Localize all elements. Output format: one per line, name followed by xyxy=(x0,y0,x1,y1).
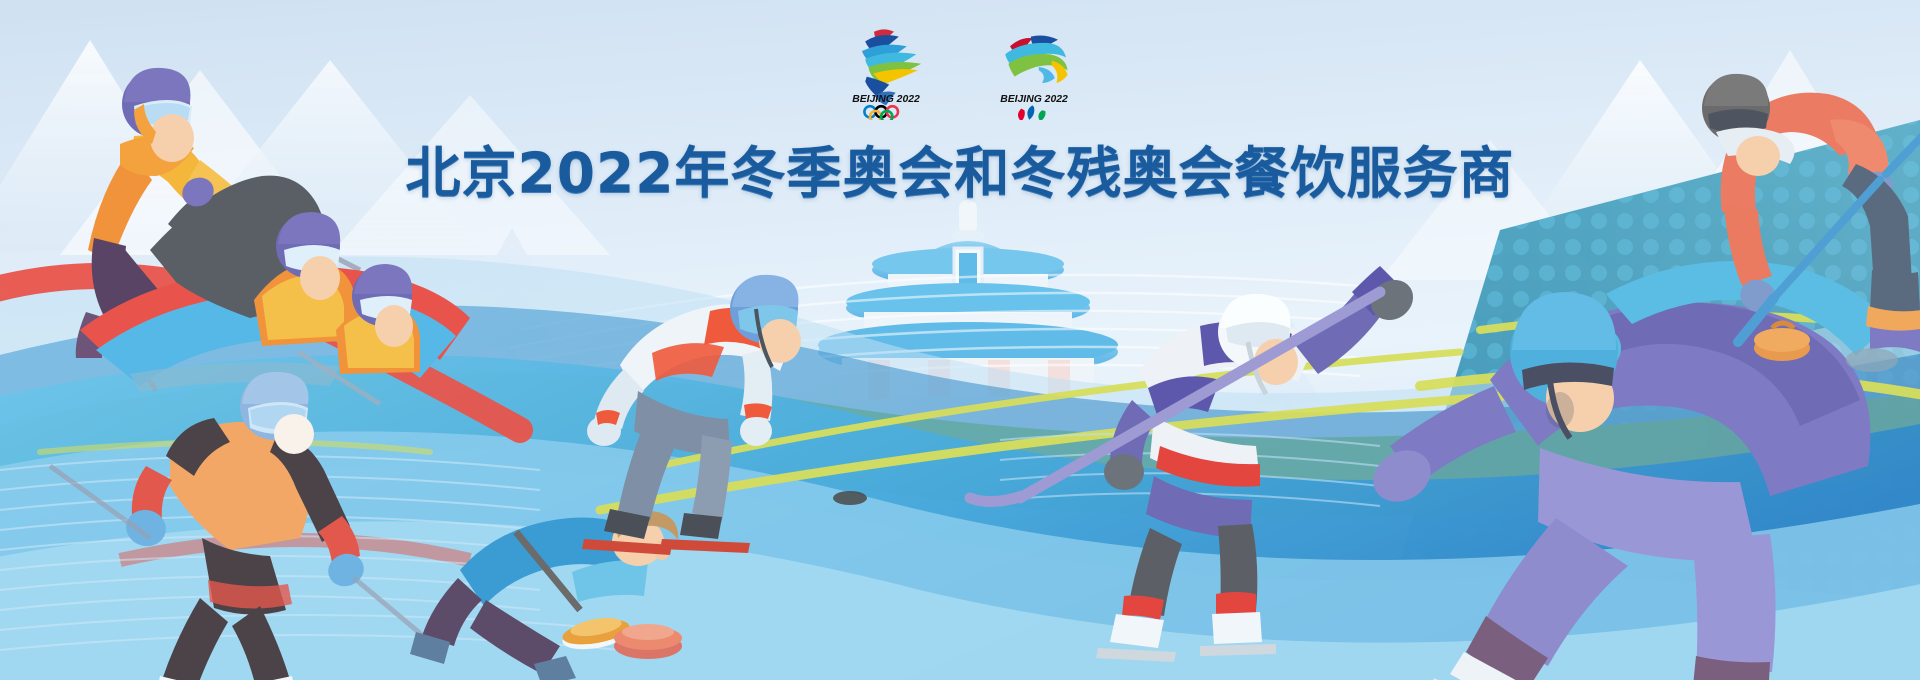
beijing-2022-banner: BEIJING 2022 BEIJING xyxy=(0,0,1920,680)
curling-stone xyxy=(614,624,682,659)
illustration-scene xyxy=(0,0,1920,680)
